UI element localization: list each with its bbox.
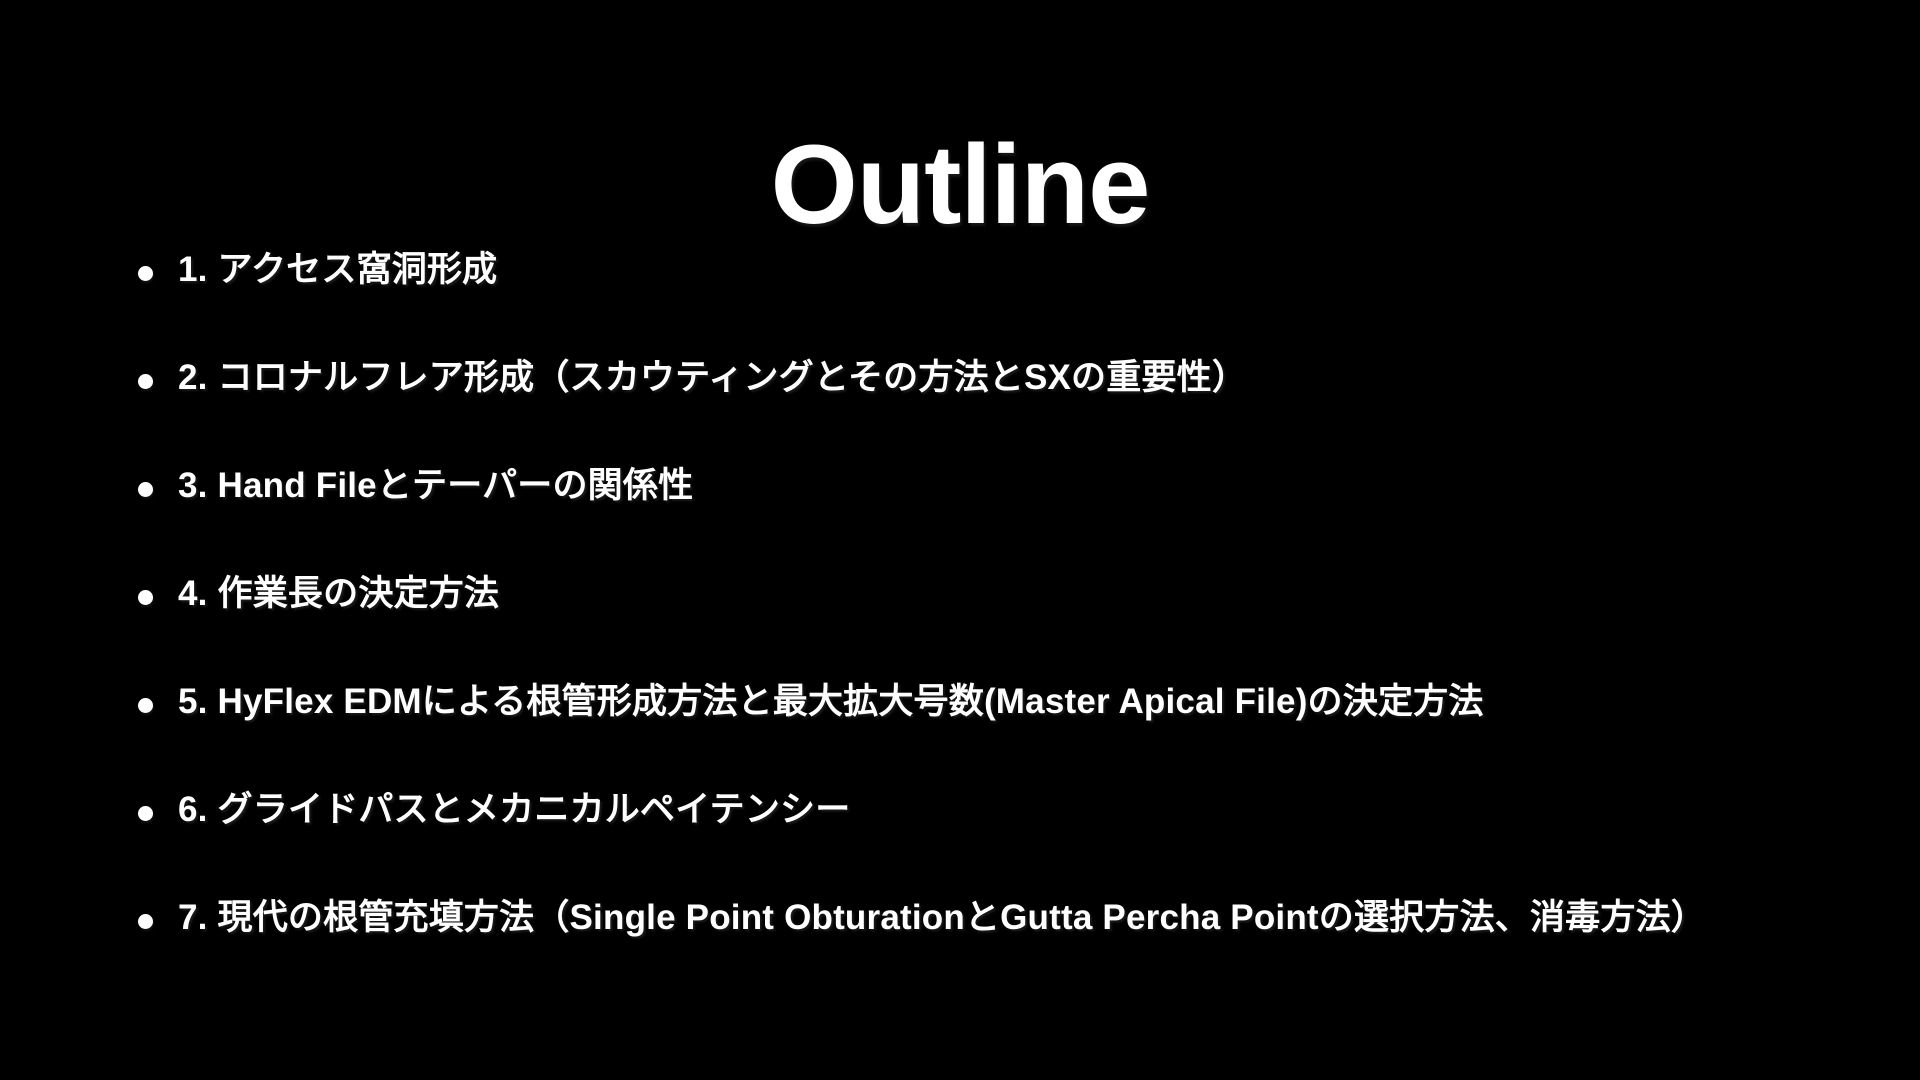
presentation-slide: Outline 1. アクセス窩洞形成 2. コロナルフレア形成（スカウティング…: [0, 0, 1920, 1080]
bullet-dot-icon: [138, 806, 153, 821]
list-item-label: 1. アクセス窩洞形成: [178, 248, 497, 292]
list-item-label: 3. Hand Fileとテーパーの関係性: [178, 464, 693, 508]
list-item-label: 4. 作業長の決定方法: [178, 572, 499, 616]
list-item-label: 7. 現代の根管充填方法（Single Point ObturationとGut…: [178, 896, 1706, 940]
bullet-dot-icon: [138, 698, 153, 713]
list-item-label: 2. コロナルフレア形成（スカウティングとその方法とSXの重要性）: [178, 356, 1247, 400]
list-item: 7. 現代の根管充填方法（Single Point ObturationとGut…: [132, 896, 1872, 1004]
list-item: 6. グライドパスとメカニカルペイテンシー: [132, 788, 1872, 896]
outline-list: 1. アクセス窩洞形成 2. コロナルフレア形成（スカウティングとその方法とSX…: [132, 248, 1872, 1004]
list-item: 5. HyFlex EDMによる根管形成方法と最大拡大号数(Master Api…: [132, 680, 1872, 788]
list-item: 2. コロナルフレア形成（スカウティングとその方法とSXの重要性）: [132, 356, 1872, 464]
page-title: Outline: [0, 129, 1920, 241]
list-item: 4. 作業長の決定方法: [132, 572, 1872, 680]
list-item-label: 6. グライドパスとメカニカルペイテンシー: [178, 788, 850, 832]
bullet-dot-icon: [138, 374, 153, 389]
list-item: 3. Hand Fileとテーパーの関係性: [132, 464, 1872, 572]
bullet-dot-icon: [138, 590, 153, 605]
bullet-dot-icon: [138, 914, 153, 929]
list-item-label: 5. HyFlex EDMによる根管形成方法と最大拡大号数(Master Api…: [178, 680, 1484, 724]
bullet-dot-icon: [138, 266, 153, 281]
list-item: 1. アクセス窩洞形成: [132, 248, 1872, 356]
bullet-dot-icon: [138, 482, 153, 497]
